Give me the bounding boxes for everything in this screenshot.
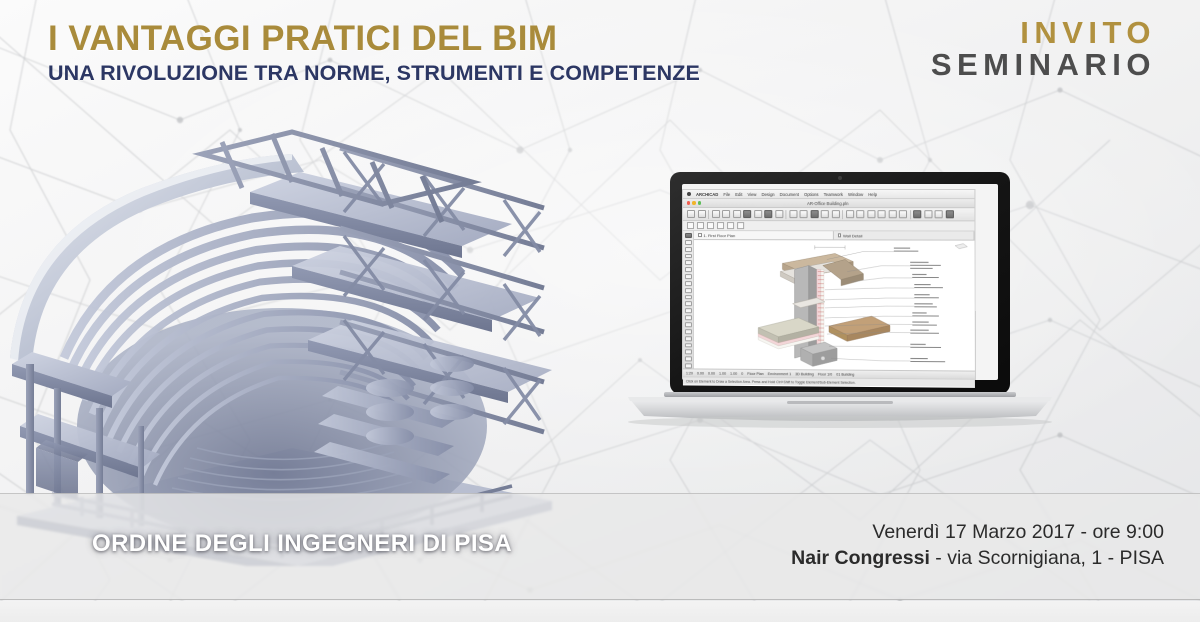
seminar-invitation-poster: ARCHICAD File Edit View Design Document … (0, 0, 1200, 622)
toolbar-separator (842, 210, 843, 219)
slab-palette-icon[interactable] (684, 274, 691, 279)
roof-palette-icon[interactable] (684, 281, 691, 286)
wall-tool-icon[interactable] (743, 210, 751, 218)
arrow-palette-icon[interactable] (684, 233, 691, 238)
info-box-icon[interactable] (687, 222, 694, 229)
status-y: 0.00 (708, 371, 715, 375)
grid-toggle-icon[interactable] (727, 222, 734, 229)
arc-tool-icon[interactable] (800, 210, 808, 218)
window-palette-icon[interactable] (684, 260, 691, 265)
secondary-toolbar[interactable] (683, 221, 975, 232)
morph-palette-icon[interactable] (684, 329, 691, 334)
slab-tool-icon[interactable] (754, 210, 762, 218)
status-angle: 1.00 (730, 371, 737, 375)
label-palette-icon[interactable] (684, 357, 691, 362)
beam-palette-icon[interactable] (684, 308, 691, 313)
line-tool-icon[interactable] (733, 210, 741, 218)
menu-item-edit[interactable]: Edit (735, 192, 742, 197)
text-tool-icon[interactable] (867, 210, 875, 218)
event-date: Venerdì 17 Marzo 2017 - ore 9:00 (791, 519, 1164, 545)
tab-icon (837, 234, 841, 238)
fill-palette-icon[interactable] (684, 363, 691, 368)
measure-tool-icon[interactable] (846, 210, 854, 218)
menu-item-window[interactable]: Window (848, 192, 863, 197)
dimension-palette-icon[interactable] (684, 343, 691, 348)
main-toolbar[interactable] (683, 208, 974, 221)
stair-palette-icon[interactable] (684, 295, 691, 300)
venue-address: - via Scornigiana, 1 - PISA (930, 547, 1164, 569)
shell-palette-icon[interactable] (684, 322, 691, 327)
layer-select-icon[interactable] (697, 222, 704, 229)
toolbar-separator (910, 210, 911, 219)
wall-section-detail-drawing[interactable] (694, 240, 975, 371)
redo-icon[interactable] (697, 210, 705, 218)
apple-logo-icon (687, 192, 691, 196)
drawing-canvas[interactable]: 1. First Floor Plan Wall Detail (694, 231, 975, 371)
tab-label: 1. First Floor Plan (703, 233, 735, 238)
event-venue: Nair Congressi - via Scornigiana, 1 - PI… (791, 545, 1164, 571)
toolbar-separator (785, 210, 786, 219)
status-z: 0 (741, 371, 743, 375)
status-model[interactable]: 3D Building (795, 372, 814, 376)
menu-item-teamwork[interactable]: Teamwork (824, 192, 843, 197)
status-renovation[interactable]: 01 Building (836, 372, 854, 376)
text-palette-icon[interactable] (684, 350, 691, 355)
snap-toggle-icon[interactable] (717, 222, 724, 229)
footer-bottom-strip (0, 601, 1200, 622)
invitation-label-block: INVITO SEMINARIO (931, 18, 1158, 81)
menu-item-view[interactable]: View (747, 192, 756, 197)
wall-palette-icon[interactable] (684, 247, 691, 252)
organization-name: ORDINE DEGLI INGEGNERI DI PISA (92, 530, 512, 558)
fill-tool-icon[interactable] (810, 210, 818, 218)
status-x: 0.00 (697, 371, 704, 375)
page-subtitle: UNA RIVOLUZIONE TRA NORME, STRUMENTI E C… (48, 62, 700, 86)
edit-tool-icon[interactable] (924, 210, 932, 218)
arrow-select-icon[interactable] (737, 222, 744, 229)
document-title-bar: AR-Office Building.pln (683, 199, 974, 208)
archicad-application-window[interactable]: ARCHICAD File Edit View Design Document … (683, 190, 975, 388)
tab-label: Wall Detail (843, 233, 862, 238)
venue-name: Nair Congressi (791, 547, 930, 569)
pencil-tool-icon[interactable] (722, 210, 730, 218)
magnify-tool-icon[interactable] (856, 210, 864, 218)
status-scale[interactable]: 1:20 (686, 371, 693, 375)
marquee-palette-icon[interactable] (684, 240, 691, 245)
arrow-tool-icon[interactable] (712, 210, 720, 218)
invito-label: INVITO (931, 18, 1158, 48)
hint-bar: Click on Element to Draw a Selection Are… (683, 376, 975, 386)
object-palette-icon[interactable] (684, 267, 691, 272)
beam-tool-icon[interactable] (775, 210, 783, 218)
palette-tool-icon[interactable] (945, 210, 953, 218)
menu-item-options[interactable]: Options (804, 192, 819, 197)
page-title: I VANTAGGI PRATICI DEL BIM (48, 20, 700, 57)
label-tool-icon[interactable] (877, 210, 885, 218)
column-tool-icon[interactable] (764, 210, 772, 218)
document-title: AR-Office Building.pln (683, 201, 974, 206)
tab-first-floor-plan[interactable]: 1. First Floor Plan (694, 231, 833, 239)
tool-palette-sidebar[interactable] (683, 231, 694, 368)
circle-tool-icon[interactable] (789, 210, 797, 218)
application-body: 1. First Floor Plan Wall Detail (683, 231, 975, 371)
zone-tool-icon[interactable] (821, 210, 829, 218)
mirror-tool-icon[interactable] (899, 210, 907, 218)
menu-item-design[interactable]: Design (762, 192, 775, 197)
tab-wall-detail[interactable]: Wall Detail (833, 231, 974, 239)
door-palette-icon[interactable] (684, 254, 691, 259)
status-story[interactable]: Floor 1/0 (818, 372, 832, 376)
undo-icon[interactable] (687, 210, 695, 218)
hint-text: Click on Element to Draw a Selection Are… (686, 379, 856, 384)
column-palette-icon[interactable] (684, 302, 691, 307)
status-environment[interactable]: Environment 1 (768, 372, 791, 376)
curtain-wall-palette-icon[interactable] (684, 315, 691, 320)
toolbar-separator (708, 210, 709, 219)
tab-icon (698, 233, 702, 237)
menu-item-document[interactable]: Document (780, 192, 799, 197)
mesh-palette-icon[interactable] (684, 288, 691, 293)
title-block: I VANTAGGI PRATICI DEL BIM UNA RIVOLUZIO… (48, 20, 700, 86)
seminario-label: SEMINARIO (931, 50, 1158, 80)
app-menu-bar[interactable]: ARCHICAD File Edit View Design Document … (683, 190, 974, 199)
pen-color-icon[interactable] (707, 222, 714, 229)
dimension-tool-icon[interactable] (831, 210, 839, 218)
status-view-mode[interactable]: Floor Plan (747, 371, 764, 375)
zone-palette-icon[interactable] (684, 336, 691, 341)
marquee-tool-icon[interactable] (888, 210, 896, 218)
menu-item-file[interactable]: File (723, 192, 730, 197)
render-tool-icon[interactable] (913, 210, 921, 218)
search-icon[interactable] (935, 210, 943, 218)
event-details: Venerdì 17 Marzo 2017 - ore 9:00 Nair Co… (791, 519, 1164, 572)
menu-item-help[interactable]: Help (868, 192, 877, 197)
status-dist: 1.00 (719, 371, 726, 375)
menu-item-archicad[interactable]: ARCHICAD (696, 192, 718, 197)
